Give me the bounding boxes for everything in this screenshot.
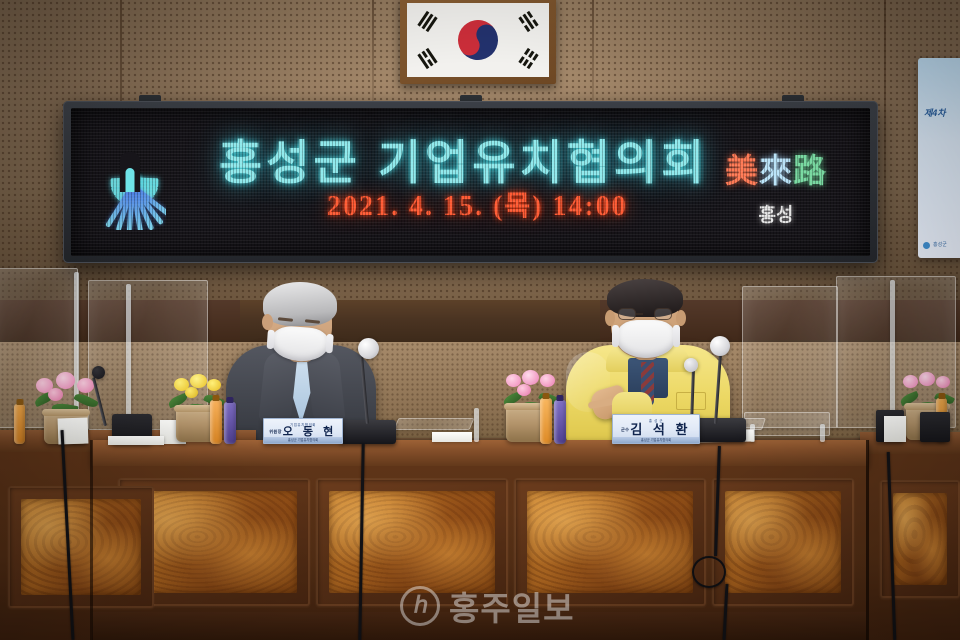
trigram-ri <box>417 48 437 69</box>
nameplate-name-text-right: 김 석 환 <box>630 422 691 437</box>
hongseong-county-emblem-icon <box>93 132 167 230</box>
desk-panel-4 <box>712 478 854 606</box>
acrylic-desk-divider <box>394 418 475 430</box>
left-participant-ear <box>262 314 273 330</box>
paper-card <box>884 416 906 442</box>
led-headline: 홍성군 기업유치협의회 <box>219 124 708 193</box>
led-screen: 홍성군 기업유치협의회 2021. 4. 15. (목) 14:00 美來路 홍… <box>71 108 870 256</box>
poster-footer: 홍성군 <box>933 241 947 248</box>
burl-wood-inlay <box>893 493 947 585</box>
nameplate-role-left: 위원장 <box>269 429 281 434</box>
taeguk-symbol <box>450 12 505 67</box>
microphone-windscreen-aux <box>684 358 698 372</box>
right-participant-face-mask <box>617 320 675 358</box>
brand-char-2: 來 <box>759 152 793 189</box>
taegukgi-flag <box>407 3 549 77</box>
burl-wood-inlay <box>725 491 841 593</box>
brand-char-1: 美 <box>725 152 759 189</box>
korean-flag-frame <box>400 0 556 84</box>
burl-wood-inlay <box>527 491 693 593</box>
acrylic-stand-leg <box>820 424 825 442</box>
mirae-ro-brand-logo: 美來路 홍성 <box>712 144 840 227</box>
photo-scene: 홍성군 기업유치협의회 2021. 4. 15. (목) 14:00 美來路 홍… <box>0 0 960 640</box>
acrylic-partition <box>742 286 838 428</box>
desk-panel-left-wing <box>8 486 154 608</box>
acrylic-partition-leg <box>890 280 895 424</box>
microphone-windscreen-left <box>358 338 379 359</box>
nameplate-footer-left: 홍성군 기업유치협의회 <box>264 437 342 443</box>
beverage-bottle-purple <box>554 400 566 444</box>
burl-wood-inlay <box>21 499 141 595</box>
desk-surface-main <box>92 440 868 466</box>
coiled-cable <box>692 556 726 588</box>
beverage-bottle-purple <box>224 402 236 444</box>
desk-panel-3 <box>514 478 706 606</box>
paper-sheet <box>432 432 472 442</box>
wall-seam <box>884 0 886 300</box>
wall-seam <box>372 0 374 102</box>
desk-joint <box>90 440 93 640</box>
beverage-bottle-orange <box>210 400 222 444</box>
nameplate-footer-right: 홍성군 기업유치협의회 <box>613 437 699 443</box>
microphone-capsule-aux <box>92 366 105 379</box>
brand-char-3: 路 <box>793 152 827 189</box>
acrylic-divider-leg <box>474 408 479 442</box>
desk-panel-2 <box>316 478 508 606</box>
led-display-sign: 홍성군 기업유치협의회 2021. 4. 15. (목) 14:00 美來路 홍… <box>63 101 878 263</box>
desk-joint <box>866 440 869 640</box>
handbag <box>920 412 950 442</box>
brand-subtitle: 홍성 <box>712 200 840 227</box>
trigram-geon <box>417 11 437 32</box>
desk-baseboard-main <box>92 612 868 640</box>
poster-heading: 제4차 <box>924 108 946 119</box>
nameplate-role-right: 군수 <box>621 427 629 432</box>
wall-poster-banner: 제4차 홍성군 <box>918 58 960 258</box>
microphone-windscreen-right <box>710 336 730 356</box>
nameplate-name-right: 군수김 석 환 <box>613 423 699 437</box>
trigram-gam <box>518 11 538 32</box>
burl-wood-inlay <box>131 491 297 593</box>
poster-logo-dot <box>923 242 930 249</box>
microphone-base-right <box>694 418 746 442</box>
burl-wood-inlay <box>329 491 495 593</box>
beverage-bottle-orange <box>540 398 552 444</box>
led-datetime: 2021. 4. 15. (목) 14:00 <box>327 184 628 224</box>
nameplate-left-participant: 기업유치협의회 위원장오 동 현 홍성군 기업유치협의회 <box>263 418 343 444</box>
trigram-gon <box>518 48 538 69</box>
beverage-bottle-amber <box>14 404 25 444</box>
acrylic-partition-leg <box>126 284 131 426</box>
right-participant-ear-left <box>605 310 615 326</box>
wall-seam <box>592 0 594 102</box>
right-participant-ear-right <box>676 310 686 326</box>
paper-sheet <box>108 436 164 445</box>
nameplate-right-participant: 홍 성 군 군수김 석 환 홍성군 기업유치협의회 <box>612 414 700 444</box>
left-participant-hair <box>263 282 337 326</box>
